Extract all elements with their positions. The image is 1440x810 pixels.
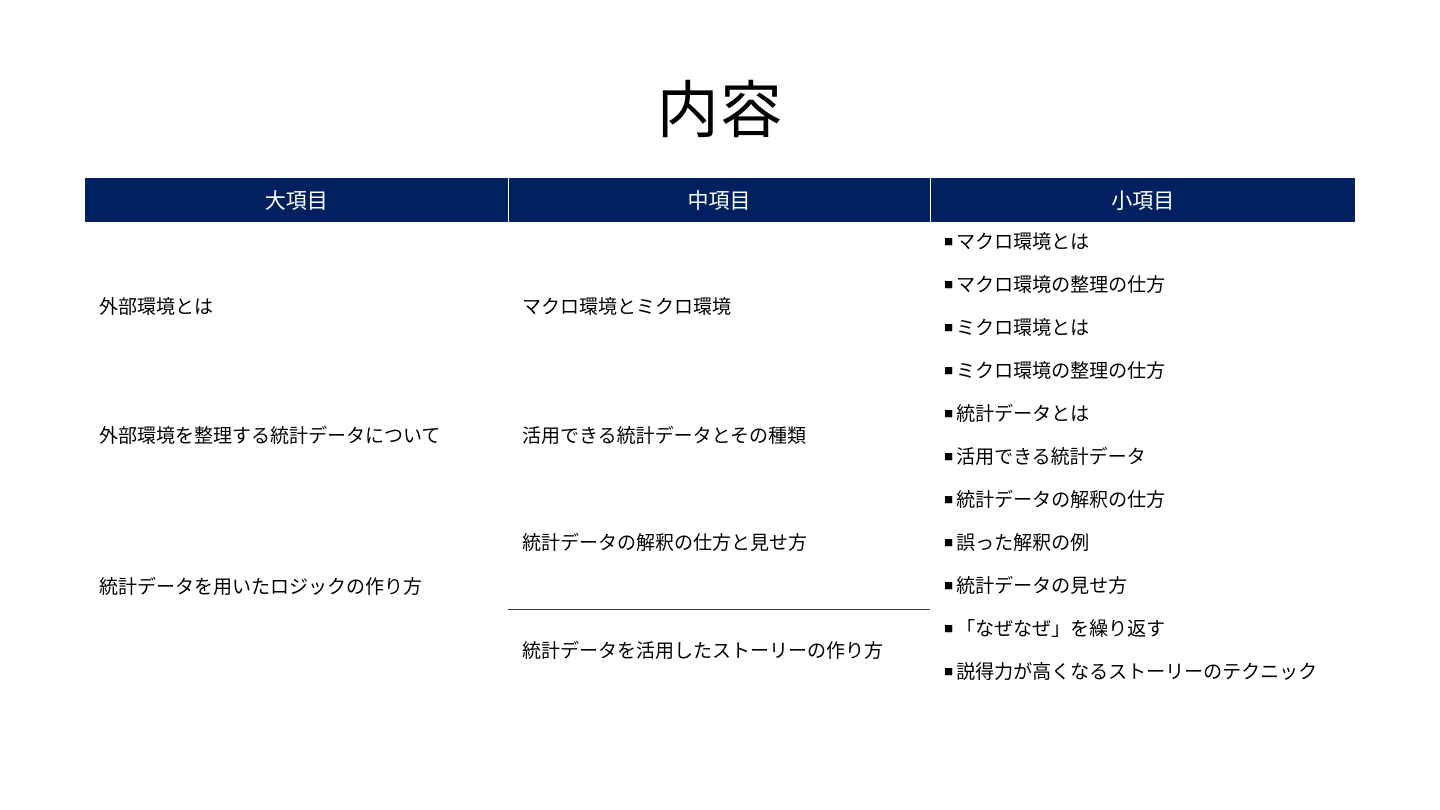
column-header-major: 大項目 [85, 178, 508, 222]
contents-table: 大項目 中項目 小項目 外部環境とは マクロ環境とミクロ環境 ■マクロ環境とは [85, 178, 1355, 695]
minor-item-cell: ■活用できる統計データ [930, 437, 1355, 480]
square-bullet-icon: ■ [944, 664, 953, 679]
square-bullet-icon: ■ [944, 578, 953, 593]
minor-item-cell: ■統計データとは [930, 394, 1355, 437]
major-item-cell: 外部環境とは [85, 222, 508, 394]
middle-item-label: 活用できる統計データとその種類 [522, 424, 916, 450]
minor-item-label: 活用できる統計データ [956, 447, 1146, 468]
minor-item-label: マクロ環境とは [956, 232, 1089, 253]
middle-item-cell: 活用できる統計データとその種類 [508, 394, 930, 480]
minor-item-cell: ■誤った解釈の例 [930, 523, 1355, 566]
square-bullet-icon: ■ [944, 234, 953, 249]
column-header-middle: 中項目 [508, 178, 930, 222]
major-item-cell: 統計データを用いたロジックの作り方 [85, 480, 508, 695]
square-bullet-icon: ■ [944, 492, 953, 507]
minor-item-cell: ■マクロ環境とは [930, 222, 1355, 265]
minor-item-label: マクロ環境の整理の仕方 [956, 275, 1165, 296]
middle-item-label: 統計データの解釈の仕方と見せ方 [522, 531, 916, 557]
minor-item-cell: ■マクロ環境の整理の仕方 [930, 265, 1355, 308]
square-bullet-icon: ■ [944, 277, 953, 292]
minor-item-label: 誤った解釈の例 [956, 533, 1089, 554]
minor-item-label: 説得力が高くなるストーリーのテクニック [956, 662, 1317, 683]
minor-item-label: 「なぜなぜ」を繰り返す [956, 619, 1165, 640]
minor-item-label: ミクロ環境の整理の仕方 [956, 361, 1165, 382]
major-item-label: 外部環境を整理する統計データについて [99, 424, 494, 450]
square-bullet-icon: ■ [944, 535, 953, 550]
major-item-label: 外部環境とは [99, 295, 494, 321]
minor-item-cell: ■説得力が高くなるストーリーのテクニック [930, 652, 1355, 695]
square-bullet-icon: ■ [944, 363, 953, 378]
middle-item-cell: 統計データを活用したストーリーの作り方 [508, 609, 930, 695]
middle-item-label: 統計データを活用したストーリーの作り方 [522, 639, 916, 665]
minor-item-label: 統計データの解釈の仕方 [956, 490, 1165, 511]
minor-item-cell: ■統計データの見せ方 [930, 566, 1355, 609]
table-row: 統計データを用いたロジックの作り方 統計データの解釈の仕方と見せ方 ■統計データ… [85, 480, 1355, 523]
major-item-label: 統計データを用いたロジックの作り方 [99, 575, 494, 601]
square-bullet-icon: ■ [944, 406, 953, 421]
minor-item-cell: ■ミクロ環境とは [930, 308, 1355, 351]
minor-item-label: 統計データの見せ方 [956, 576, 1127, 597]
minor-item-cell: ■「なぜなぜ」を繰り返す [930, 609, 1355, 652]
table-header-row: 大項目 中項目 小項目 [85, 178, 1355, 222]
table-body: 外部環境とは マクロ環境とミクロ環境 ■マクロ環境とは ■マクロ環境の整理の仕方… [85, 222, 1355, 695]
table-row: 外部環境を整理する統計データについて 活用できる統計データとその種類 ■統計デー… [85, 394, 1355, 437]
major-item-cell: 外部環境を整理する統計データについて [85, 394, 508, 480]
column-header-minor: 小項目 [930, 178, 1355, 222]
square-bullet-icon: ■ [944, 621, 953, 636]
minor-item-label: ミクロ環境とは [956, 318, 1089, 339]
slide-canvas: 内容 大項目 中項目 小項目 外部環境とは マクロ環境とミクロ環境 ■マ [0, 0, 1440, 810]
table-row: 外部環境とは マクロ環境とミクロ環境 ■マクロ環境とは [85, 222, 1355, 265]
middle-item-label: マクロ環境とミクロ環境 [522, 295, 916, 321]
middle-item-cell: 統計データの解釈の仕方と見せ方 [508, 480, 930, 609]
square-bullet-icon: ■ [944, 320, 953, 335]
page-title: 内容 [0, 72, 1440, 152]
table-header: 大項目 中項目 小項目 [85, 178, 1355, 222]
minor-item-cell: ■ミクロ環境の整理の仕方 [930, 351, 1355, 394]
minor-item-label: 統計データとは [956, 404, 1089, 425]
minor-item-cell: ■統計データの解釈の仕方 [930, 480, 1355, 523]
square-bullet-icon: ■ [944, 449, 953, 464]
middle-item-cell: マクロ環境とミクロ環境 [508, 222, 930, 394]
